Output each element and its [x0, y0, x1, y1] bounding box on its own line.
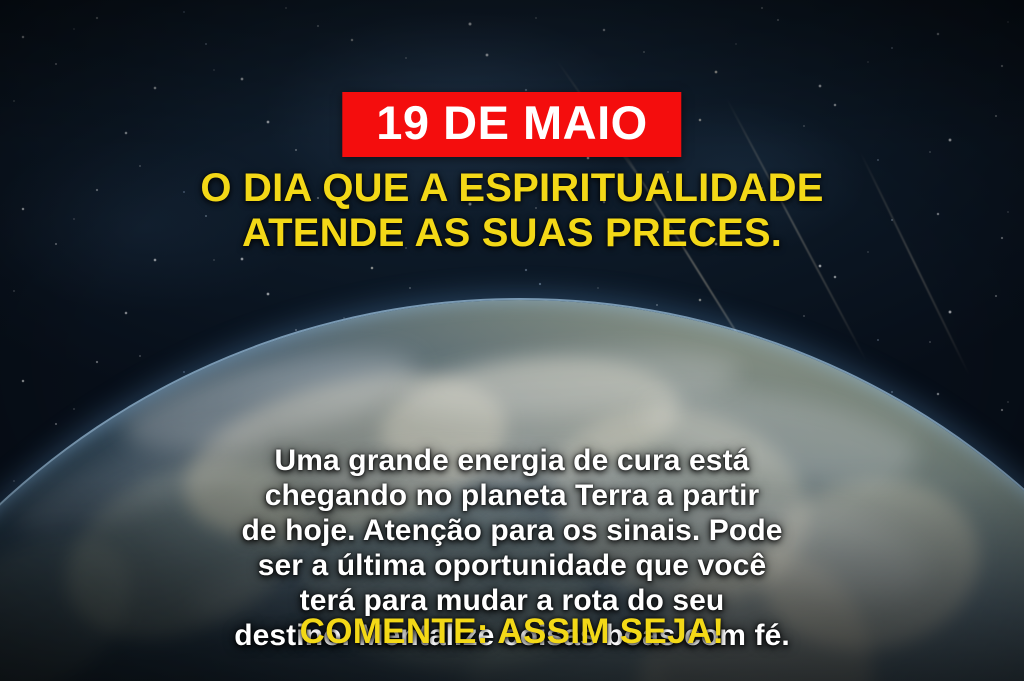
date-banner: 19 DE MAIO [342, 92, 681, 157]
date-banner-text: 19 DE MAIO [376, 99, 647, 146]
poster-canvas: 19 DE MAIO O DIA QUE A ESPIRITUALIDADE A… [0, 0, 1024, 685]
bottom-white-strip [0, 681, 1024, 685]
headline: O DIA QUE A ESPIRITUALIDADE ATENDE AS SU… [0, 166, 1024, 256]
call-to-action-text: COMENTE: ASSIM SEJA! [0, 612, 1024, 652]
headline-line-2: ATENDE AS SUAS PRECES. [40, 211, 984, 256]
body-line-3: de hoje. Atenção para os sinais. Pode [44, 513, 980, 548]
body-line-1: Uma grande energia de cura está [44, 443, 980, 478]
body-line-2: chegando no planeta Terra a partir [44, 478, 980, 513]
poster-content: 19 DE MAIO O DIA QUE A ESPIRITUALIDADE A… [0, 0, 1024, 685]
headline-line-1: O DIA QUE A ESPIRITUALIDADE [40, 166, 984, 211]
body-line-4: ser a última oportunidade que você [44, 548, 980, 583]
